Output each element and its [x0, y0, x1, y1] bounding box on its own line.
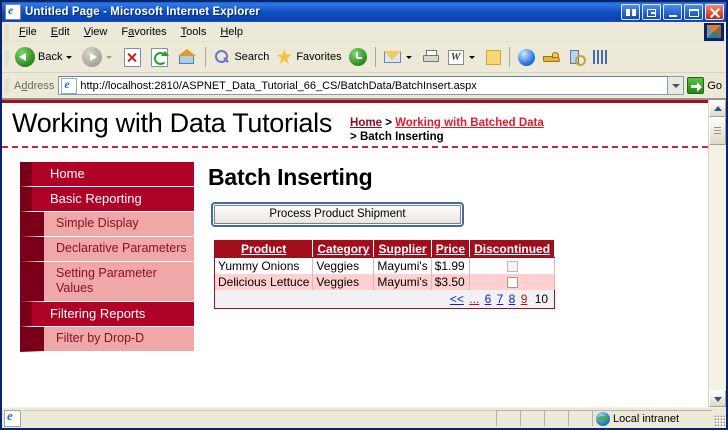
column-header-product[interactable]: Product — [215, 241, 313, 258]
pager-current-page: 10 — [535, 292, 548, 306]
scroll-down-icon — [714, 397, 722, 402]
print-button[interactable] — [419, 44, 444, 70]
menu-item-favorites[interactable]: Favorites — [114, 25, 173, 39]
pager-page-8-link[interactable]: 8 — [509, 292, 516, 306]
forward-icon — [82, 47, 102, 67]
globe-icon — [596, 412, 610, 426]
sidebar-item-setting-parameter-values[interactable]: Setting Parameter Values — [20, 262, 194, 302]
cell-discontinued — [470, 258, 555, 275]
chevron-down-icon — [672, 84, 680, 88]
column-header-discontinued[interactable]: Discontinued — [470, 241, 555, 258]
page-body: Home Basic Reporting Simple Display Decl… — [2, 148, 708, 352]
window-controls — [621, 4, 724, 20]
forward-dropdown-icon[interactable] — [106, 56, 112, 59]
menu-item-help[interactable]: Help — [213, 25, 250, 39]
menu-item-view[interactable]: View — [77, 25, 115, 39]
discontinued-checkbox[interactable] — [507, 277, 518, 288]
scroll-up-button[interactable] — [709, 100, 726, 117]
status-pane-2 — [520, 410, 544, 426]
scrollbar-track[interactable] — [709, 117, 726, 390]
notes-icon — [486, 50, 501, 65]
pager-page-9-link[interactable]: 9 — [521, 292, 528, 306]
breadcrumb: Home > Working with Batched Data > Batch… — [350, 107, 544, 144]
back-dropdown-icon[interactable] — [66, 56, 72, 59]
sort-link-price[interactable]: Price — [436, 242, 465, 256]
messenger-button[interactable] — [514, 44, 539, 70]
site-title: Working with Data Tutorials — [12, 107, 332, 139]
stop-button[interactable] — [119, 44, 146, 70]
search-label: Search — [234, 51, 269, 63]
vertical-scrollbar[interactable] — [708, 100, 726, 407]
column-header-supplier[interactable]: Supplier — [374, 241, 431, 258]
page-viewport: Working with Data Tutorials Home > Worki… — [2, 99, 726, 407]
cell-supplier: Mayumi's — [374, 274, 431, 290]
column-header-category[interactable]: Category — [313, 241, 374, 258]
notes-button[interactable] — [482, 44, 505, 70]
research-button[interactable] — [565, 44, 589, 70]
refresh-icon — [151, 48, 168, 67]
menu-grip-handle[interactable] — [5, 24, 9, 39]
breadcrumb-separator-1: > — [385, 117, 392, 129]
sort-link-product[interactable]: Product — [241, 242, 286, 256]
cell-price: $3.50 — [431, 274, 469, 290]
favorites-star-icon — [276, 49, 292, 65]
sort-link-supplier[interactable]: Supplier — [379, 242, 427, 256]
page-header: Working with Data Tutorials Home > Worki… — [2, 103, 708, 148]
shoe-button[interactable] — [539, 44, 565, 70]
messenger-icon — [518, 49, 535, 66]
edit-button[interactable]: W — [444, 44, 482, 70]
products-grid: Product Category Supplier Price Disconti… — [214, 240, 555, 309]
sidebar-item-home[interactable]: Home — [20, 162, 194, 187]
grid-header-row: Product Category Supplier Price Disconti… — [215, 241, 555, 258]
security-zone[interactable]: Local intranet — [592, 410, 712, 426]
home-icon — [178, 48, 196, 66]
barcode-icon — [593, 50, 609, 64]
scrollbar-thumb[interactable] — [709, 117, 726, 145]
pager-page-7-link[interactable]: 7 — [497, 292, 504, 306]
table-row: Delicious Lettuce Veggies Mayumi's $3.50 — [215, 274, 555, 290]
breadcrumb-separator-2: > — [350, 131, 357, 143]
cell-category: Veggies — [313, 274, 374, 290]
toolbar-separator — [205, 47, 206, 67]
restore-window-button[interactable] — [642, 4, 661, 20]
minimize-button[interactable] — [663, 4, 682, 20]
refresh-button[interactable] — [146, 44, 173, 70]
security-zone-label: Local intranet — [613, 413, 679, 425]
ie-document-icon[interactable] — [5, 4, 21, 20]
favorites-label: Favorites — [296, 51, 341, 63]
menu-item-edit[interactable]: Edit — [44, 25, 77, 39]
main-content: Batch Inserting Process Product Shipment… — [194, 148, 708, 309]
address-url-text: http://localhost:2810/ASPNET_Data_Tutori… — [80, 80, 667, 92]
mail-dropdown-icon[interactable] — [406, 56, 412, 59]
windows-flag-icon[interactable] — [704, 23, 724, 41]
breadcrumb-current: Batch Inserting — [360, 131, 444, 143]
pager-ellipsis-link[interactable]: ... — [469, 292, 479, 306]
process-product-shipment-button[interactable]: Process Product Shipment — [214, 205, 461, 224]
address-bar: Address http://localhost:2810/ASPNET_Dat… — [2, 73, 726, 99]
menu-item-tools[interactable]: Tools — [174, 25, 214, 39]
status-bar: Local intranet — [2, 407, 726, 428]
stop-icon — [124, 48, 141, 67]
maximize-button[interactable] — [684, 4, 703, 20]
sort-link-category[interactable]: Category — [317, 242, 369, 256]
scroll-up-icon — [714, 106, 722, 111]
home-button[interactable] — [173, 44, 201, 70]
status-message — [23, 410, 496, 426]
address-input[interactable]: http://localhost:2810/ASPNET_Data_Tutori… — [58, 76, 668, 95]
back-icon — [15, 47, 35, 67]
barcode-button[interactable] — [589, 44, 613, 70]
cell-price: $1.99 — [431, 258, 469, 275]
sidebar: Home Basic Reporting Simple Display Decl… — [2, 148, 194, 352]
pager-page-6-link[interactable]: 6 — [485, 292, 492, 306]
mail-icon — [384, 51, 401, 63]
sidebar-item-declarative-parameters[interactable]: Declarative Parameters — [20, 237, 194, 262]
scroll-down-button[interactable] — [709, 390, 726, 407]
sidebar-item-filtering-reports[interactable]: Filtering Reports — [20, 302, 194, 327]
edit-word-icon: W — [448, 50, 464, 65]
address-grip-handle[interactable] — [5, 78, 9, 93]
cell-product: Yummy Onions — [215, 258, 313, 275]
back-button[interactable]: Back — [12, 44, 79, 70]
favorites-button[interactable]: Favorites — [272, 44, 344, 70]
web-page: Working with Data Tutorials Home > Worki… — [2, 100, 708, 407]
back-label: Back — [38, 51, 62, 63]
research-icon — [569, 49, 585, 65]
breadcrumb-home-link[interactable]: Home — [350, 117, 382, 129]
address-dropdown-button[interactable] — [668, 76, 684, 95]
navigation-toolbar: Back Search Favorites W — [2, 42, 726, 73]
sidebar-item-filter-by-dropdown[interactable]: Filter by Drop-D — [20, 327, 194, 352]
go-button[interactable]: Go — [684, 77, 726, 94]
cell-supplier: Mayumi's — [374, 258, 431, 275]
browser-window: Untitled Page - Microsoft Internet Explo… — [0, 0, 728, 430]
ie-page-icon — [4, 410, 21, 427]
resize-grip[interactable] — [714, 415, 726, 427]
shoe-icon — [543, 50, 561, 64]
toolbar-separator-2 — [375, 47, 376, 67]
toolbar-grip-handle[interactable] — [5, 50, 9, 65]
restore-split-button[interactable] — [621, 4, 640, 20]
menu-item-file[interactable]: File — [12, 25, 44, 39]
status-pane-3 — [544, 410, 568, 426]
grid-pager-row: << ... 6 7 8 9 10 — [215, 290, 555, 309]
cell-category: Veggies — [313, 258, 374, 275]
grid-body: Yummy Onions Veggies Mayumi's $1.99 Deli… — [215, 258, 555, 309]
sort-link-discontinued[interactable]: Discontinued — [474, 242, 550, 256]
close-button[interactable] — [705, 4, 724, 20]
address-label: Address — [14, 80, 54, 92]
grid-pager: << ... 6 7 8 9 10 — [215, 290, 555, 309]
sidebar-item-basic-reporting[interactable]: Basic Reporting — [20, 187, 194, 212]
page-title: Batch Inserting — [208, 164, 696, 191]
window-title: Untitled Page - Microsoft Internet Explo… — [25, 6, 621, 18]
sidebar-item-simple-display[interactable]: Simple Display — [20, 212, 194, 237]
ie-page-icon — [61, 78, 77, 94]
column-header-price[interactable]: Price — [431, 241, 469, 258]
status-pane-4 — [568, 410, 592, 426]
go-label: Go — [707, 80, 722, 92]
title-bar: Untitled Page - Microsoft Internet Explo… — [2, 2, 726, 22]
cell-discontinued — [470, 274, 555, 290]
edit-dropdown-icon[interactable] — [469, 56, 475, 59]
grid-header: Product Category Supplier Price Disconti… — [215, 241, 555, 258]
go-arrow-icon — [687, 77, 704, 94]
mail-button[interactable] — [380, 44, 419, 70]
breadcrumb-section-link[interactable]: Working with Batched Data — [395, 117, 544, 129]
menu-bar: File Edit View Favorites Tools Help — [2, 22, 726, 42]
table-row: Yummy Onions Veggies Mayumi's $1.99 — [215, 258, 555, 275]
toolbar-separator-3 — [509, 47, 510, 67]
status-pane-1 — [496, 410, 520, 426]
pager-first-link[interactable]: << — [450, 292, 464, 306]
history-button[interactable] — [345, 44, 371, 70]
history-icon — [349, 48, 367, 66]
discontinued-checkbox[interactable] — [507, 261, 518, 272]
search-icon — [214, 49, 230, 65]
sidebar-nav: Home Basic Reporting Simple Display Decl… — [20, 162, 194, 352]
cell-product: Delicious Lettuce — [215, 274, 313, 290]
print-icon — [423, 50, 440, 64]
search-button[interactable]: Search — [210, 44, 272, 70]
forward-button[interactable] — [79, 44, 119, 70]
